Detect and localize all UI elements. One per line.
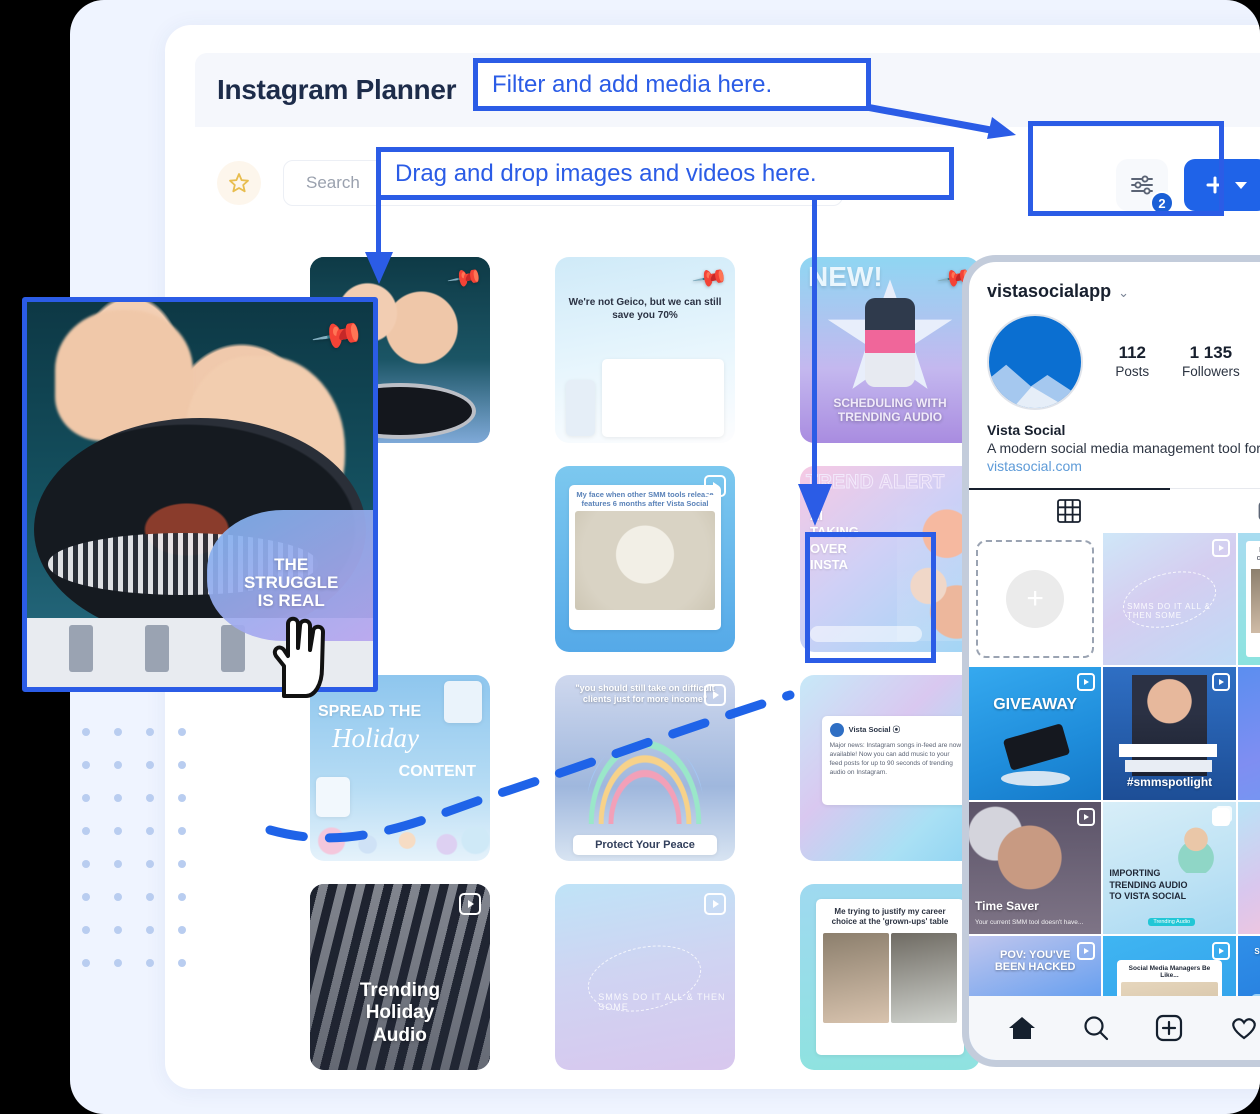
- instagram-preview-phone: vistasocialapp ⌄ 112 Posts: [962, 255, 1260, 1067]
- star-icon: [227, 171, 251, 195]
- instagram-bottom-nav: [969, 996, 1260, 1060]
- callout-text: Filter and add media here.: [492, 71, 772, 99]
- media-card-instagram-songs[interactable]: Vista Social ⦿ Major news: Instagram son…: [800, 675, 980, 861]
- plus-icon: [1204, 174, 1226, 196]
- media-card-alpaca[interactable]: My face when other SMM tools release fea…: [555, 466, 735, 652]
- decorative-dot: [114, 827, 122, 835]
- instagram-profile-header: vistasocialapp ⌄ 112 Posts: [969, 262, 1260, 474]
- reel-icon: [704, 893, 726, 915]
- callout-drag-and-drop: Drag and drop images and videos here.: [376, 147, 954, 200]
- decorative-dot: [114, 761, 122, 769]
- media-card-geico-savings[interactable]: We're not Geico, but we can still save y…: [555, 257, 735, 443]
- stat-value: 112: [1115, 343, 1149, 363]
- grid-cell-kindness-is-magic[interactable]: Kindnessis Magic: [1238, 802, 1260, 934]
- plus-icon: +: [1006, 570, 1064, 628]
- decorative-dot: [114, 728, 122, 736]
- decorative-dot: [114, 926, 122, 934]
- multi-post-icon: [1212, 808, 1230, 826]
- sliders-filter-icon: [1129, 174, 1155, 196]
- add-media-button[interactable]: [1184, 159, 1260, 211]
- decorative-dot: [82, 860, 90, 868]
- decorative-dot: [82, 728, 90, 736]
- profile-tabs: [969, 488, 1260, 533]
- reel-icon: [704, 684, 726, 706]
- callout-drag-leader-right-stem: [812, 200, 817, 490]
- grid-cell-giveaway[interactable]: GIVEAWAY: [969, 667, 1101, 799]
- callout-filter-and-add-media: Filter and add media here.: [473, 58, 871, 111]
- stat-label: Followers: [1182, 364, 1240, 379]
- reel-icon: [1212, 673, 1230, 691]
- decorative-dot: [178, 860, 186, 868]
- heart-icon[interactable]: [1229, 1014, 1259, 1042]
- callout-drag-arrow-right: [796, 482, 834, 530]
- decorative-dot: [146, 860, 154, 868]
- media-card-trending-holiday-audio[interactable]: TrendingHolidayAudio: [310, 884, 490, 1070]
- grid-cell-drop-target[interactable]: +: [969, 533, 1101, 665]
- decorative-dot: [114, 794, 122, 802]
- reel-icon: [1077, 673, 1095, 691]
- instagram-handle: vistasocialapp: [987, 281, 1111, 302]
- profile-link[interactable]: vistasocial.com: [987, 458, 1260, 474]
- toolbar-actions: 2: [1116, 159, 1260, 211]
- reel-icon: [1212, 539, 1230, 557]
- decorative-dot: [114, 893, 122, 901]
- profile-display-name: Vista Social: [987, 422, 1260, 438]
- grid-icon: [1056, 498, 1082, 524]
- reel-icon: [704, 475, 726, 497]
- media-row: SPREAD THE Holiday CONTENT "you should s…: [310, 675, 925, 861]
- decorative-dot: [114, 860, 122, 868]
- reel-icon: [1212, 942, 1230, 960]
- filter-count-badge: 2: [1150, 191, 1174, 215]
- grid-cell-practice-self-care[interactable]: PRACTICESELFCARE: [1238, 667, 1260, 799]
- instagram-post-grid: + SMMS DO IT ALL & THEN SOME Me trying t…: [969, 533, 1260, 1067]
- decorative-dot: [82, 827, 90, 835]
- search-icon[interactable]: [1082, 1014, 1110, 1042]
- decorative-dot: [114, 959, 122, 967]
- decorative-dot: [178, 794, 186, 802]
- grid-cell-smms-do-it-all[interactable]: SMMS DO IT ALL & THEN SOME: [1103, 533, 1235, 665]
- profile-avatar[interactable]: [987, 314, 1083, 410]
- reel-icon: [1077, 808, 1095, 826]
- decorative-dot: [178, 827, 186, 835]
- tab-reels[interactable]: [1170, 489, 1260, 533]
- decorative-dot: [146, 728, 154, 736]
- media-card-smms-do-it-all[interactable]: SMMS DO IT ALL & THEN SOME: [555, 884, 735, 1070]
- page-title: Instagram Planner: [217, 74, 456, 106]
- decorative-dot: [82, 761, 90, 769]
- decorative-dot: [146, 794, 154, 802]
- decorative-dot: [178, 893, 186, 901]
- media-card-new-scheduling[interactable]: NEW! SCHEDULING WITHTRENDING AUDIO 📌: [800, 257, 980, 443]
- drag-cursor-hand-icon: [262, 606, 334, 702]
- create-icon[interactable]: [1154, 1013, 1184, 1043]
- media-library-grid: 📌 We're not Geico, but we can still save…: [310, 257, 925, 1089]
- stat-label: Posts: [1115, 364, 1149, 379]
- callout-drag-arrow-left: [362, 250, 396, 286]
- media-card-protect-your-peace[interactable]: "you should still take on difficult clie…: [555, 675, 735, 861]
- decorative-dot: [178, 761, 186, 769]
- callout-filter-leader-line: [866, 103, 1026, 143]
- media-card-career-choice-meme[interactable]: Me trying to justify my career choice at…: [800, 884, 980, 1070]
- chevron-down-icon[interactable]: ⌄: [1118, 285, 1129, 301]
- stat-posts: 112 Posts: [1115, 343, 1149, 381]
- decorative-dot: [146, 893, 154, 901]
- decorative-dot: [82, 926, 90, 934]
- decorative-dot: [178, 728, 186, 736]
- tab-grid[interactable]: [969, 488, 1170, 532]
- decorative-dot: [146, 761, 154, 769]
- decorative-dot: [146, 827, 154, 835]
- decorative-dot: [82, 794, 90, 802]
- search-placeholder: Search: [306, 173, 360, 193]
- grid-cell-career-choice-meme[interactable]: Me trying to justify my career choice at…: [1238, 533, 1260, 665]
- grid-cell-time-saver[interactable]: Time Saver Your current SMM tool doesn't…: [969, 802, 1101, 934]
- filter-button[interactable]: 2: [1116, 159, 1168, 211]
- decorative-dot: [178, 959, 186, 967]
- stat-value: 1 135: [1182, 343, 1240, 363]
- callout-text: Drag and drop images and videos here.: [395, 160, 817, 188]
- media-card-spread-holiday[interactable]: SPREAD THE Holiday CONTENT: [310, 675, 490, 861]
- decorative-dot: [146, 959, 154, 967]
- grid-cell-makenna-chester[interactable]: #smmspotlight: [1103, 667, 1235, 799]
- decorative-dot: [82, 959, 90, 967]
- decorative-dot: [146, 926, 154, 934]
- profile-stats: 112 Posts 1 135 Followers 1 178 Followin…: [1083, 343, 1260, 381]
- media-row: TrendingHolidayAudio SMMS DO IT ALL & TH…: [310, 884, 925, 1070]
- reel-icon: [459, 893, 481, 915]
- reel-icon: [1077, 942, 1095, 960]
- stat-followers: 1 135 Followers: [1182, 343, 1240, 381]
- pin-icon: 📌: [691, 259, 730, 298]
- home-icon[interactable]: [1007, 1014, 1037, 1042]
- profile-bio: A modern social media management tool fo…: [987, 440, 1260, 456]
- chevron-down-icon: [1234, 180, 1248, 190]
- grid-cell-importing-trending-audio[interactable]: IMPORTINGTRENDING AUDIOTO VISTA SOCIAL T…: [1103, 802, 1235, 934]
- decorative-dot-grid: [70, 718, 190, 1008]
- decorative-dot: [82, 893, 90, 901]
- decorative-dot: [178, 926, 186, 934]
- favorites-star-button[interactable]: [217, 161, 261, 205]
- media-row: 📌 We're not Geico, but we can still save…: [310, 257, 925, 443]
